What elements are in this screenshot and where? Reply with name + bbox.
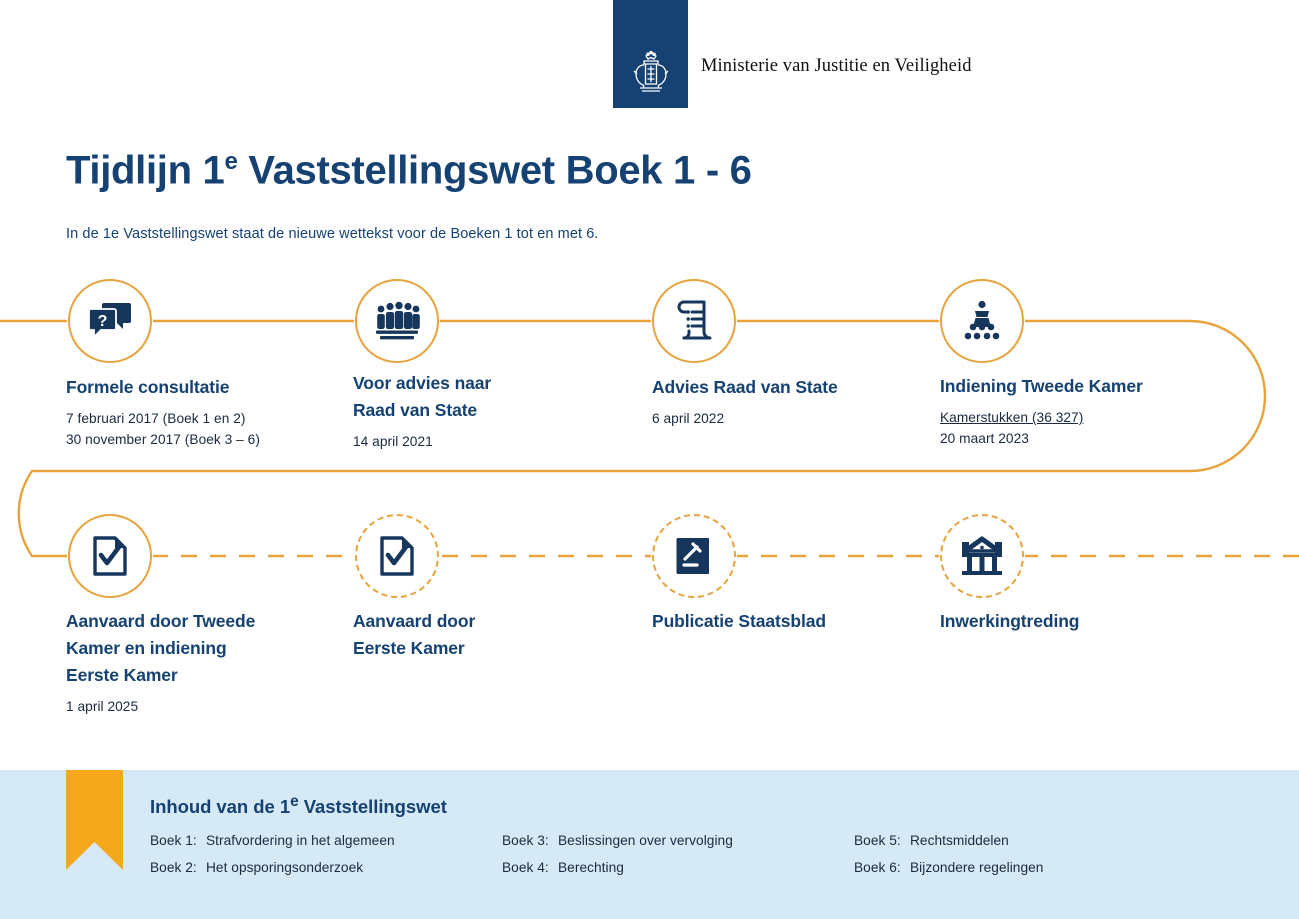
node-date-line: 20 maart 2023 — [940, 428, 1200, 449]
book-value: Het opsporingsonderzoek — [206, 855, 502, 882]
node-title-line1: Voor advies naar — [353, 370, 613, 397]
node-dates: 6 april 2022 — [652, 408, 912, 429]
node-title-line1: Inwerkingtreding — [940, 608, 1200, 635]
timeline-label-indiening-tweede-kamer: Indiening Tweede Kamer Kamerstukken (36 … — [940, 373, 1200, 450]
banner-title-prefix: Inhoud van de 1 — [150, 796, 290, 817]
book-item: Boek 1: Strafvordering in het algemeen — [150, 828, 502, 855]
book-column: Boek 5: Rechtsmiddelen Boek 6: Bijzonder… — [854, 828, 1206, 881]
book-item: Boek 5: Rechtsmiddelen — [854, 828, 1206, 855]
timeline-node-aanvaard-tweede-kamer[interactable] — [68, 514, 152, 598]
timeline-node-indiening-tweede-kamer[interactable] — [940, 279, 1024, 363]
node-title-line1: Publicatie Staatsblad — [652, 608, 912, 635]
book-column: Boek 3: Beslissingen over vervolging Boe… — [502, 828, 854, 881]
book-key: Boek 2: — [150, 855, 206, 882]
book-value: Rechtsmiddelen — [910, 828, 1206, 855]
book-item: Boek 2: Het opsporingsonderzoek — [150, 855, 502, 882]
node-dates: Kamerstukken (36 327) 20 maart 2023 — [940, 407, 1200, 449]
node-date-line: 1 april 2025 — [66, 696, 326, 717]
group-of-people-icon — [374, 300, 420, 342]
book-gavel-icon — [673, 535, 715, 577]
book-key: Boek 1: — [150, 828, 206, 855]
banner-title-suffix: Vaststellingswet — [299, 796, 447, 817]
node-title-line1: Aanvaard door — [353, 608, 613, 635]
document-checkmark-icon — [378, 535, 416, 577]
courthouse-building-icon — [960, 536, 1004, 576]
netherlands-coat-of-arms-icon — [628, 50, 674, 98]
book-item: Boek 4: Berechting — [502, 855, 854, 882]
node-dates: 14 april 2021 — [353, 431, 613, 452]
page-subtitle: In de 1e Vaststellingswet staat de nieuw… — [66, 226, 599, 242]
node-date-line: 6 april 2022 — [652, 408, 912, 429]
infographic-page: Ministerie van Justitie en Veiligheid Ti… — [0, 0, 1299, 919]
node-date-line: 30 november 2017 (Boek 3 – 6) — [66, 429, 326, 450]
banner-title: Inhoud van de 1e Vaststellingswet — [150, 793, 447, 818]
book-value: Bijzondere regelingen — [910, 855, 1206, 882]
timeline-label-advies-raad-van-state: Advies Raad van State 6 april 2022 — [652, 374, 912, 429]
node-dates: 7 februari 2017 (Boek 1 en 2) 30 novembe… — [66, 408, 326, 450]
book-key: Boek 5: — [854, 828, 910, 855]
node-date-line: 14 april 2021 — [353, 431, 613, 452]
speech-bubbles-question-icon: ? — [88, 301, 132, 341]
node-title-line2: Kamer en indiening — [66, 635, 326, 662]
node-dates: 1 april 2025 — [66, 696, 326, 717]
timeline-label-aanvaard-eerste-kamer: Aanvaard door Eerste Kamer — [353, 608, 613, 662]
node-title-line1: Aanvaard door Tweede — [66, 608, 326, 635]
banner-title-sup: e — [290, 793, 299, 810]
page-title-suffix: Vaststellingswet Boek 1 - 6 — [238, 148, 752, 192]
node-title-line3: Eerste Kamer — [66, 662, 326, 689]
timeline-node-publicatie-staatsblad[interactable] — [652, 514, 736, 598]
timeline-node-aanvaard-eerste-kamer[interactable] — [355, 514, 439, 598]
book-list: Boek 1: Strafvordering in het algemeen B… — [150, 828, 1250, 881]
book-key: Boek 3: — [502, 828, 558, 855]
page-title-sup: e — [225, 148, 238, 175]
book-key: Boek 6: — [854, 855, 910, 882]
bookmark-ribbon-icon — [66, 770, 123, 870]
timeline-node-advies-raad-van-state[interactable] — [652, 279, 736, 363]
timeline-label-voor-advies-raad-van-state: Voor advies naar Raad van State 14 april… — [353, 370, 613, 452]
timeline-label-publicatie-staatsblad: Publicatie Staatsblad — [652, 608, 912, 635]
timeline-node-formele-consultatie[interactable]: ? — [68, 279, 152, 363]
node-title-line2: Raad van State — [353, 397, 613, 424]
book-value: Berechting — [558, 855, 854, 882]
node-date-line: 7 februari 2017 (Boek 1 en 2) — [66, 408, 326, 429]
ministry-name: Ministerie van Justitie en Veiligheid — [701, 56, 972, 77]
node-title: Formele consultatie — [66, 374, 326, 401]
timeline-label-aanvaard-tweede-kamer: Aanvaard door Tweede Kamer en indiening … — [66, 608, 326, 718]
scroll-document-icon — [674, 299, 714, 343]
page-title: Tijdlijn 1e Vaststellingswet Boek 1 - 6 — [66, 148, 752, 193]
book-key: Boek 4: — [502, 855, 558, 882]
timeline-node-voor-advies-raad-van-state[interactable] — [355, 279, 439, 363]
book-value: Strafvordering in het algemeen — [206, 828, 502, 855]
book-column: Boek 1: Strafvordering in het algemeen B… — [150, 828, 502, 881]
page-title-prefix: Tijdlijn 1 — [66, 148, 225, 192]
book-item: Boek 6: Bijzondere regelingen — [854, 855, 1206, 882]
node-title-line2: Eerste Kamer — [353, 635, 613, 662]
logo-blue-bar — [613, 0, 688, 108]
kamerstukken-link[interactable]: Kamerstukken (36 327) — [940, 407, 1200, 428]
document-checkmark-icon — [91, 535, 129, 577]
ministry-logo: Ministerie van Justitie en Veiligheid — [613, 0, 972, 108]
timeline-label-inwerkingtreding: Inwerkingtreding — [940, 608, 1200, 635]
timeline-label-formele-consultatie: Formele consultatie 7 februari 2017 (Boe… — [66, 374, 326, 451]
node-title: Indiening Tweede Kamer — [940, 373, 1200, 400]
timeline-node-inwerkingtreding[interactable] — [940, 514, 1024, 598]
book-item: Boek 3: Beslissingen over vervolging — [502, 828, 854, 855]
svg-text:?: ? — [98, 313, 108, 330]
speaker-podium-audience-icon — [960, 300, 1004, 342]
node-title: Advies Raad van State — [652, 374, 912, 401]
book-value: Beslissingen over vervolging — [558, 828, 854, 855]
